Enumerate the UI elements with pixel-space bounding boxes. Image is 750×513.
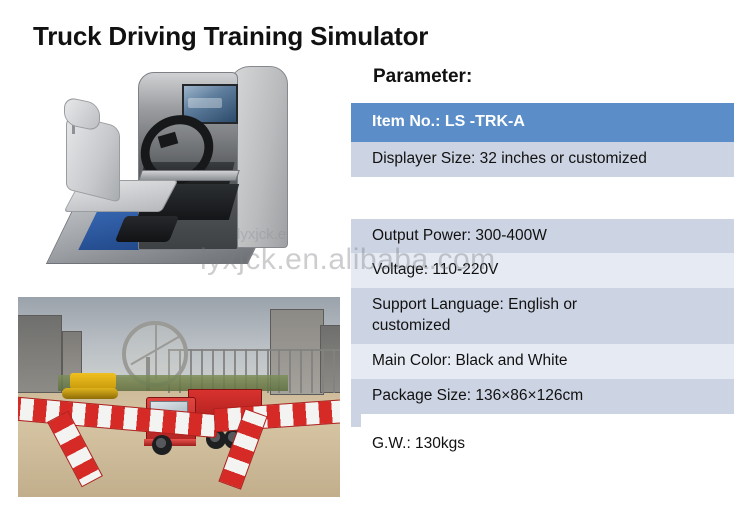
table-cell-main-color: Main Color: Black and White [361,344,734,379]
table-row-package-size: Package Size: 136×86×126cm [351,379,734,414]
table-row-support-language: Support Language: English or customized [351,288,734,344]
table-cell-voltage: Voltage: 110-220V [361,253,734,288]
row-gutter [351,253,361,288]
table-cell-empty [361,414,734,427]
table-cell-displayer-size: Displayer Size: 32 inches or customized [361,142,734,177]
table-row-output-power: Output Power: 300-400W [351,219,734,254]
row-gutter [351,288,361,344]
table-row-gutter-stub [351,414,734,427]
bulldozer-body [70,373,116,389]
scene-photo-training-course [18,297,340,497]
table-cell-package-size: Package Size: 136×86×126cm [361,379,734,414]
row-gutter [351,427,361,462]
scene-building [18,315,62,393]
row-gutter [351,379,361,414]
row-gutter [351,142,361,177]
table-cell-item-no: Item No.: LS -TRK-A [361,103,734,142]
table-row-main-color: Main Color: Black and White [351,344,734,379]
scene-yellow-bulldozer [60,373,122,403]
table-cell-support-language: Support Language: English or customized [361,288,636,344]
truck-wheel [152,435,172,455]
product-detail-page: Truck Driving Training Simulator [0,0,750,513]
table-row-gross-weight: G.W.: 130kgs [351,427,734,462]
simulator-pedal-unit [115,216,180,242]
row-gutter [351,344,361,379]
table-row-displayer-size: Displayer Size: 32 inches or customized [351,142,734,177]
table-cell-spacer [361,177,734,219]
product-photo-simulator [42,58,339,280]
parameter-section-heading: Parameter: [373,66,472,88]
page-title: Truck Driving Training Simulator [33,21,428,52]
table-cell-output-power: Output Power: 300-400W [361,219,734,254]
parameter-table: Item No.: LS -TRK-A Displayer Size: 32 i… [351,103,734,462]
row-gutter [351,414,361,427]
row-gutter [351,103,361,142]
table-cell-gross-weight: G.W.: 130kgs [361,427,734,462]
bulldozer-track [62,388,118,399]
row-gutter [351,219,361,254]
table-row-item-no: Item No.: LS -TRK-A [351,103,734,142]
table-row-voltage: Voltage: 110-220V [351,253,734,288]
row-gutter [351,177,361,219]
table-row-spacer [351,177,734,219]
